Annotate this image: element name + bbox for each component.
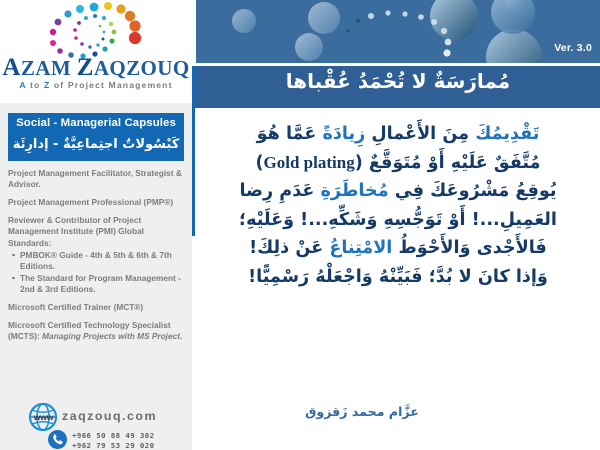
body-segment: وَإذا كانَ لا بُدَّ؛ فَبَيِّنْهُ وَاجْعَ…	[248, 267, 548, 287]
credentials-list: Project Management Facilitator, Strategi…	[8, 168, 186, 349]
body-segment: مُتَّفَقٌ عَلَيْهِ أَوْ مُتَوَقَّعٌ	[363, 153, 541, 173]
body-segment: عَدَمِ رِضا	[239, 181, 314, 201]
website-url[interactable]: zaqzouq.com	[62, 409, 157, 423]
phone-row: +966 50 88 49 302 +962 79 53 29 020	[48, 430, 198, 450]
signature: عزَّام محمد زَقزوق	[192, 404, 532, 419]
body-line: العَمِيلِ...! أَوْ تَوَجُّسِهِ وَشَكِّهِ…	[202, 206, 594, 235]
brand-part-2: AQZOUQ	[94, 56, 190, 80]
brand-tagline: A to Z of Project Management	[0, 80, 192, 90]
credential-period: .	[180, 331, 182, 341]
credential-heading: Reviewer & Contributor of Project Manage…	[8, 215, 144, 247]
capsule-title-en: Social - Managerial Capsules	[8, 117, 184, 129]
body-line: مُتَّفَقٌ عَلَيْهِ أَوْ مُتَوَقَّعٌ (Gol…	[202, 149, 594, 178]
body-segment: عَنْ ذلِكَ!	[249, 238, 323, 258]
title-accent-edge	[192, 66, 196, 108]
credential-item: Microsoft Certified Trainer (MCT®)	[8, 302, 186, 313]
capsule-title-ar: كَبْسُولاتٌ اجتِماعِيَّةٌ - إدارِئَة	[8, 137, 184, 152]
hero-banner: Ver. 3.0	[196, 0, 600, 63]
body-segment: مِنَ الأَعْمالِ	[365, 124, 469, 144]
body-accent-edge	[192, 108, 195, 236]
tagline-rest: of Project Management	[50, 80, 172, 90]
body-line: فَالأَجْدى وَالأَحْوَطُ الامْتِناعُ عَنْ…	[202, 234, 594, 263]
phone-icon	[48, 430, 67, 449]
body-segment: فَالأَجْدى وَالأَحْوَطُ	[392, 238, 547, 258]
body-segment: يُوقِعُ مَشْرُوعَكَ فِي	[389, 181, 557, 201]
body-highlight: مُخاطَرَةِ	[314, 181, 388, 201]
body-line: وَإذا كانَ لا بُدَّ؛ فَبَيِّنْهُ وَاجْعَ…	[202, 263, 594, 292]
version-label: Ver. 3.0	[554, 42, 592, 54]
logo-block: AZAM ZAQZOUQ A to Z of Project Managemen…	[0, 0, 192, 103]
body-line: تَقْدِيمُكَ مِنَ الأَعْمالِ زِيادَةً عَم…	[202, 120, 594, 149]
brand-part-1: ZAM	[21, 56, 71, 80]
credential-item: Microsoft Certified Technology Specialis…	[8, 320, 186, 342]
credential-item: Project Management Facilitator, Strategi…	[8, 168, 186, 190]
phone-line-1: +966 50 88 49 302	[72, 431, 154, 441]
body-segment: عَمَّا هُوَ	[257, 124, 317, 144]
list-item: The Standard for Program Management - 2n…	[12, 273, 186, 295]
capsule-banner: Social - Managerial Capsules كَبْسُولاتٌ…	[8, 113, 184, 161]
body-highlight: الامْتِناعُ	[323, 238, 392, 258]
phone-numbers: +966 50 88 49 302 +962 79 53 29 020	[72, 431, 154, 450]
body-highlight: تَقْدِيمُكَ	[469, 124, 539, 144]
list-item: PMBOK® Guide - 4th & 5th & 6th & 7th Edi…	[12, 250, 186, 272]
credential-item: Project Management Professional (PMP®)	[8, 197, 186, 208]
slide-root: AZAM ZAQZOUQ A to Z of Project Managemen…	[0, 0, 600, 450]
hero-bubbles-decoration	[196, 0, 600, 63]
body-highlight: زِيادَةً	[316, 124, 365, 144]
sidebar: AZAM ZAQZOUQ A to Z of Project Managemen…	[0, 0, 192, 450]
body-term-en: Gold plating	[264, 149, 355, 177]
content-panel: Ver. 3.0 مُمارَسَةٌ لا تُحْمَدُ عُقْباها…	[192, 0, 600, 450]
body-segment: العَمِيلِ...! أَوْ تَوَجُّسِهِ وَشَكِّهِ…	[239, 210, 557, 230]
www-label: www	[29, 412, 58, 422]
phone-line-2: +962 79 53 29 020	[72, 441, 154, 450]
credential-item: Reviewer & Contributor of Project Manage…	[8, 215, 186, 295]
tagline-mid: to	[26, 80, 44, 90]
credential-italic: Managing Projects with MS Project	[42, 331, 180, 341]
body-text: تَقْدِيمُكَ مِنَ الأَعْمالِ زِيادَةً عَم…	[202, 120, 594, 291]
body-segment: )	[255, 153, 263, 173]
standards-list: PMBOK® Guide - 4th & 5th & 6th & 7th Edi…	[8, 250, 186, 295]
brand-wordmark: AZAM ZAQZOUQ	[0, 54, 192, 82]
website-row[interactable]: www zaqzouq.com	[28, 402, 193, 432]
body-line: يُوقِعُ مَشْرُوعَكَ فِي مُخاطَرَةِ عَدَم…	[202, 177, 594, 206]
page-title: مُمارَسَةٌ لا تُحْمَدُ عُقْباها	[196, 69, 600, 93]
title-bar: مُمارَسَةٌ لا تُحْمَدُ عُقْباها	[196, 66, 600, 108]
logo-dots-icon	[8, 2, 184, 60]
body-segment: (	[355, 153, 363, 173]
